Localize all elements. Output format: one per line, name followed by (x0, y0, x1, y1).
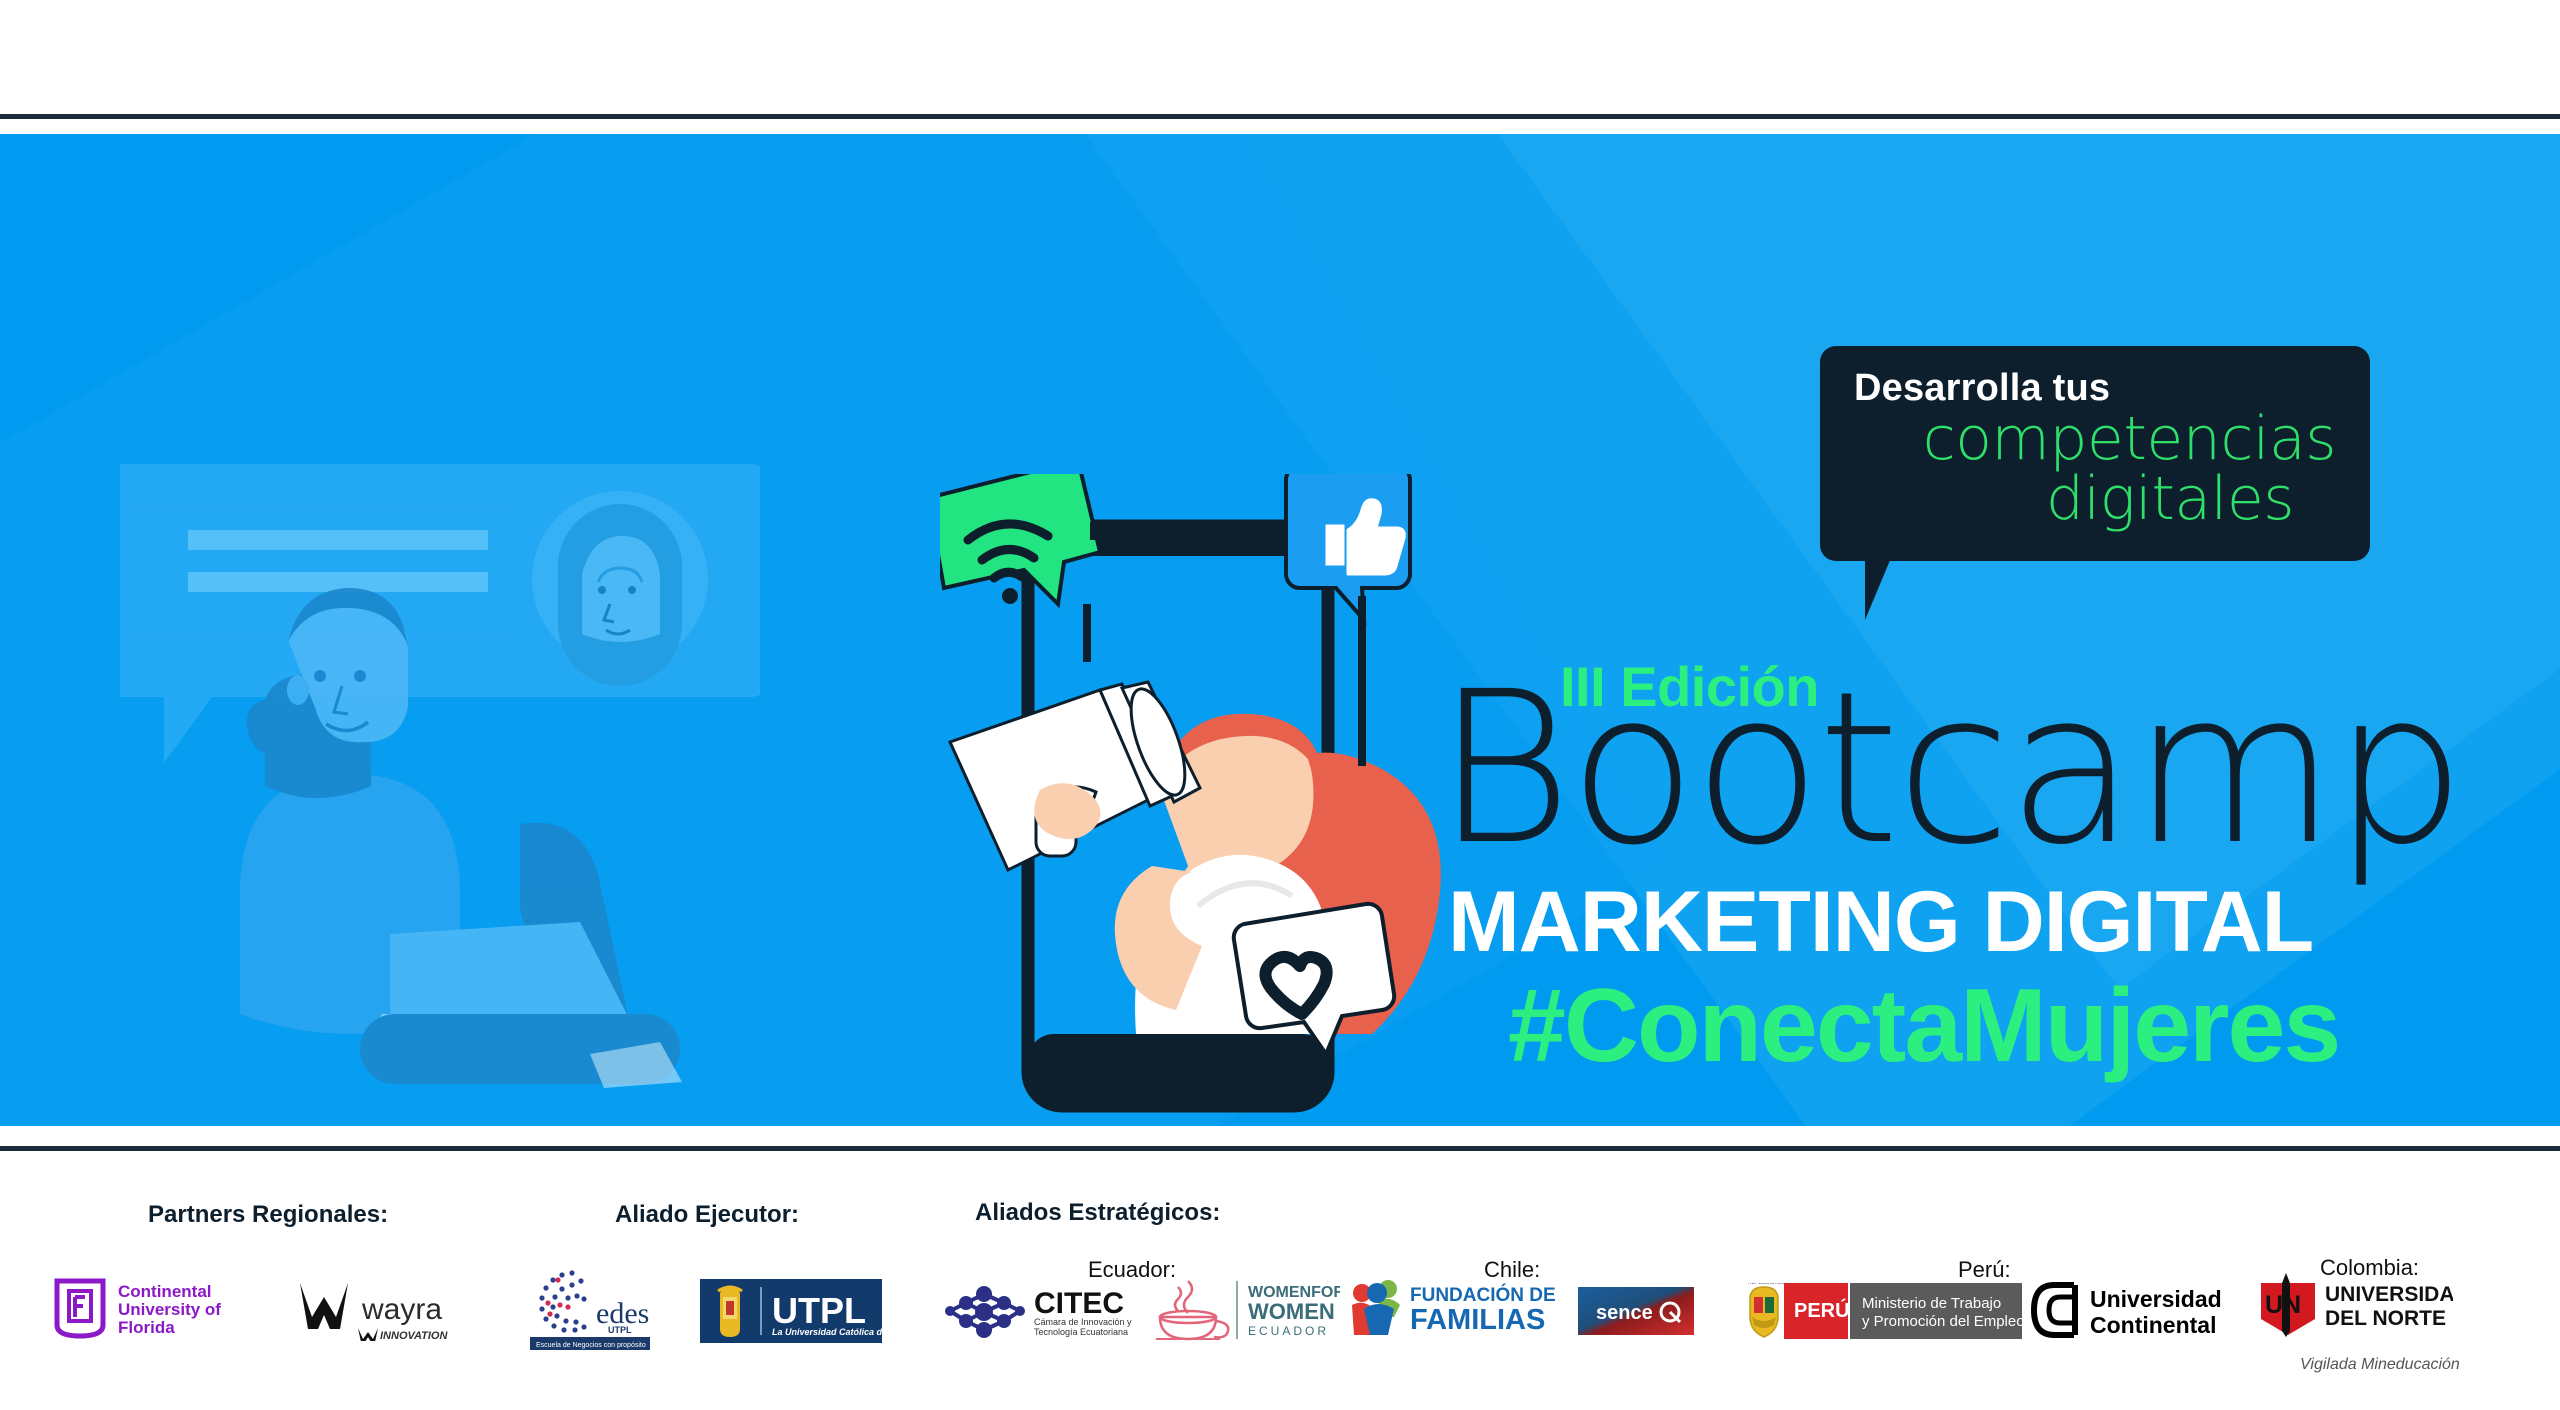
svg-text:DEL NORTE: DEL NORTE (2325, 1307, 2446, 1330)
section-label-partners-regionales: Partners Regionales: (148, 1201, 388, 1229)
woman-with-laptop-illustration (120, 454, 760, 1126)
svg-text:PERÚ: PERÚ (1794, 1298, 1850, 1322)
svg-text:Universidad: Universidad (2090, 1286, 2222, 1312)
svg-text:University of: University of (118, 1300, 221, 1319)
logo-fundacion-de-las-familias[interactable]: FUNDACIÓN DE LAS FAMILIAS (1348, 1279, 1556, 1337)
svg-text:FAMILIAS: FAMILIAS (1410, 1304, 1545, 1336)
hero-speech-bubble: Desarrolla tus competencias digitales (1820, 346, 2370, 561)
top-white-strip (0, 0, 2560, 116)
logo-edes-utpl[interactable]: edes UTPL Escuela de Negocios con propós… (524, 1267, 674, 1351)
svg-text:INNOVATION: INNOVATION (380, 1330, 448, 1341)
logo-sence[interactable]: sence (1578, 1287, 1694, 1335)
hero-edition-label: III Edición (1560, 654, 1819, 719)
logo-wayra[interactable]: wayra INNOVATION (296, 1279, 471, 1341)
svg-text:Escuela de Negocios con propós: Escuela de Negocios con propósito (536, 1342, 646, 1349)
vigilada-mineducacion-note: Vigilada Mineducación (2300, 1356, 2460, 1374)
section-label-aliado-ejecutor: Aliado Ejecutor: (615, 1201, 799, 1229)
logo-ministerio-de-trabajo-peru[interactable]: REPUBLICA DEL PERU PERÚ Ministerio de Tr… (1740, 1283, 2022, 1339)
thumbs-up-icon (1286, 474, 1410, 620)
svg-text:ECUADOR: ECUADOR (1248, 1324, 1329, 1338)
wifi-icon (940, 474, 1100, 604)
svg-text:La Universidad Católica de Loj: La Universidad Católica de Loja (772, 1327, 882, 1337)
logo-women-for-women-ecuador[interactable]: WOMENFOR WOMEN ECUADOR (1150, 1277, 1340, 1343)
svg-text:Cámara de Innovación y: Cámara de Innovación y (1034, 1317, 1132, 1327)
country-label-peru: Perú: (1958, 1257, 2011, 1283)
bubble-tail (1865, 558, 1917, 620)
logo-universidad-continental[interactable]: Universidad Continental (2030, 1281, 2240, 1339)
logo-continental-university-of-florida[interactable]: Continental University of Florida (52, 1277, 262, 1339)
top-gap (0, 119, 2560, 134)
hero-subtitle: MARKETING DIGITAL (1448, 879, 2313, 965)
svg-text:CITEC: CITEC (1034, 1287, 1124, 1320)
landing-page: Desarrolla tus competencias digitales Bo… (0, 0, 2560, 1410)
megaphone-woman-illustration (940, 474, 1460, 1126)
svg-text:UN: UN (2265, 1291, 2301, 1319)
svg-text:Continental: Continental (2090, 1312, 2217, 1338)
svg-text:wayra: wayra (361, 1293, 442, 1326)
hero-banner: Desarrolla tus competencias digitales Bo… (0, 134, 2560, 1126)
svg-text:Tecnología Ecuatoriana: Tecnología Ecuatoriana (1034, 1327, 1128, 1337)
partners-footer: Partners Regionales: Aliado Ejecutor: Al… (0, 1151, 2560, 1410)
svg-text:UNIVERSIDAD: UNIVERSIDAD (2325, 1283, 2453, 1306)
svg-text:FUNDACIÓN DE LAS: FUNDACIÓN DE LAS (1410, 1284, 1556, 1306)
bubble-line-2: competencias (1854, 410, 2336, 469)
svg-text:y Promoción del Empleo: y Promoción del Empleo (1862, 1313, 2022, 1330)
svg-text:sence: sence (1596, 1302, 1653, 1324)
bubble-line-3: digitales (1854, 469, 2336, 529)
logo-universidad-del-norte[interactable]: UN UNIVERSIDAD DEL NORTE (2253, 1273, 2453, 1345)
hero-hashtag: #ConectaMujeres (1508, 974, 2339, 1078)
section-label-aliados-estrategicos: Aliados Estratégicos: (975, 1199, 1220, 1227)
svg-text:Ministerio de Trabajo: Ministerio de Trabajo (1862, 1295, 2001, 1312)
logo-citec[interactable]: CITEC Cámara de Innovación y Tecnología … (940, 1283, 1140, 1341)
svg-text:UTPL: UTPL (608, 1325, 632, 1335)
svg-text:Continental: Continental (118, 1282, 212, 1301)
svg-text:Florida: Florida (118, 1318, 175, 1337)
svg-text:UTPL: UTPL (772, 1290, 866, 1331)
logo-utpl[interactable]: UTPL La Universidad Católica de Loja (700, 1279, 882, 1343)
svg-text:WOMEN: WOMEN (1248, 1299, 1335, 1324)
